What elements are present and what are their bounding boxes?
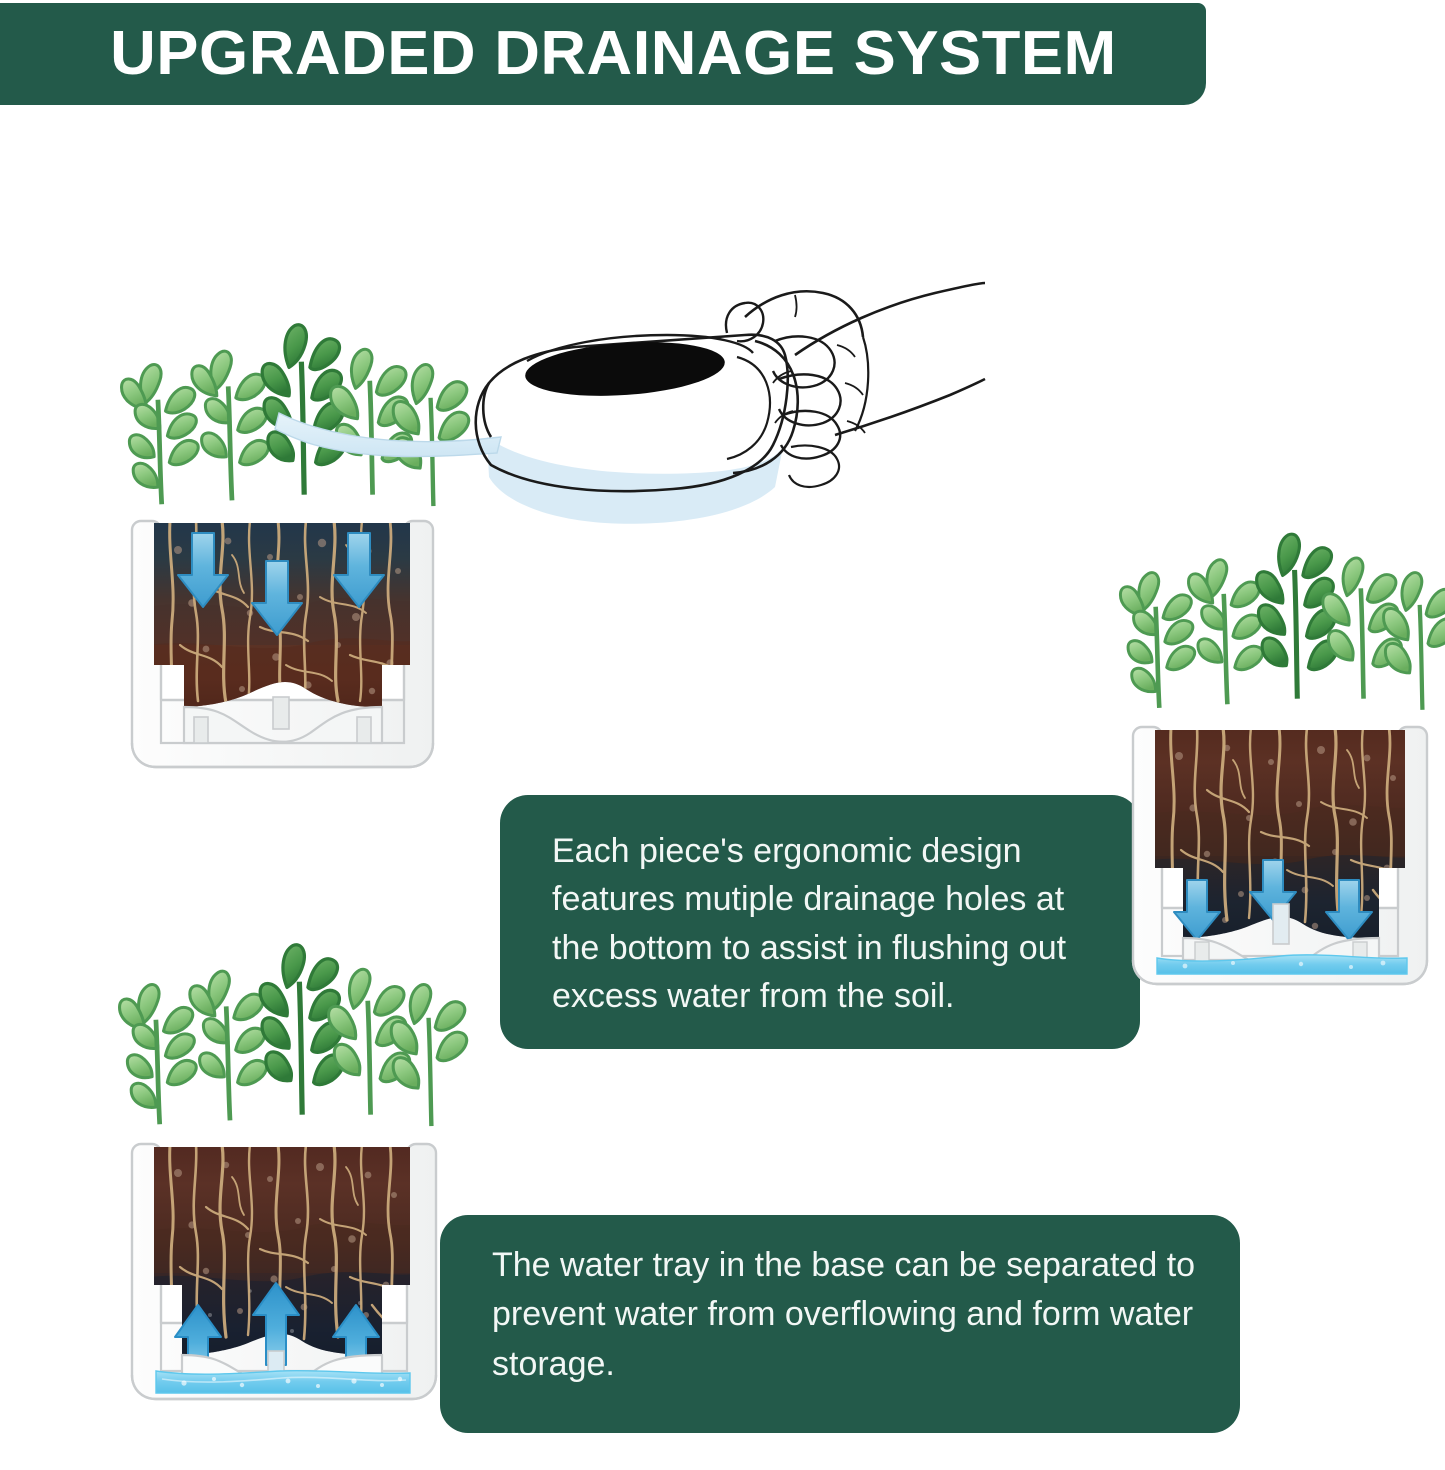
finger-4 xyxy=(789,446,839,487)
can-opening xyxy=(523,336,726,402)
infographic-canvas: UPGRADED DRAINAGE SYSTEM Each piece's er… xyxy=(0,0,1445,1470)
callout-drainage-holes: Each piece's ergonomic design features m… xyxy=(500,795,1140,1049)
water-stream xyxy=(275,413,501,457)
tray-water-reservoir xyxy=(156,1371,410,1393)
wrist xyxy=(855,337,868,431)
planter-drainage-cross-section xyxy=(1115,560,1445,1065)
callout-water-tray-text: The water tray in the base can be separa… xyxy=(492,1241,1200,1389)
callout-drainage-holes-text: Each piece's ergonomic design features m… xyxy=(552,827,1098,1020)
page-title: UPGRADED DRAINAGE SYSTEM xyxy=(110,23,1117,85)
header-banner: UPGRADED DRAINAGE SYSTEM xyxy=(0,3,1206,105)
hand-pouring-watering-can xyxy=(275,165,985,560)
succulent-plant xyxy=(1120,534,1445,710)
callout-water-tray: The water tray in the base can be separa… xyxy=(440,1215,1240,1433)
drainage-hole xyxy=(1273,904,1289,944)
succulent-plant xyxy=(120,945,467,1126)
planter-wicking-cross-section xyxy=(110,985,458,1470)
